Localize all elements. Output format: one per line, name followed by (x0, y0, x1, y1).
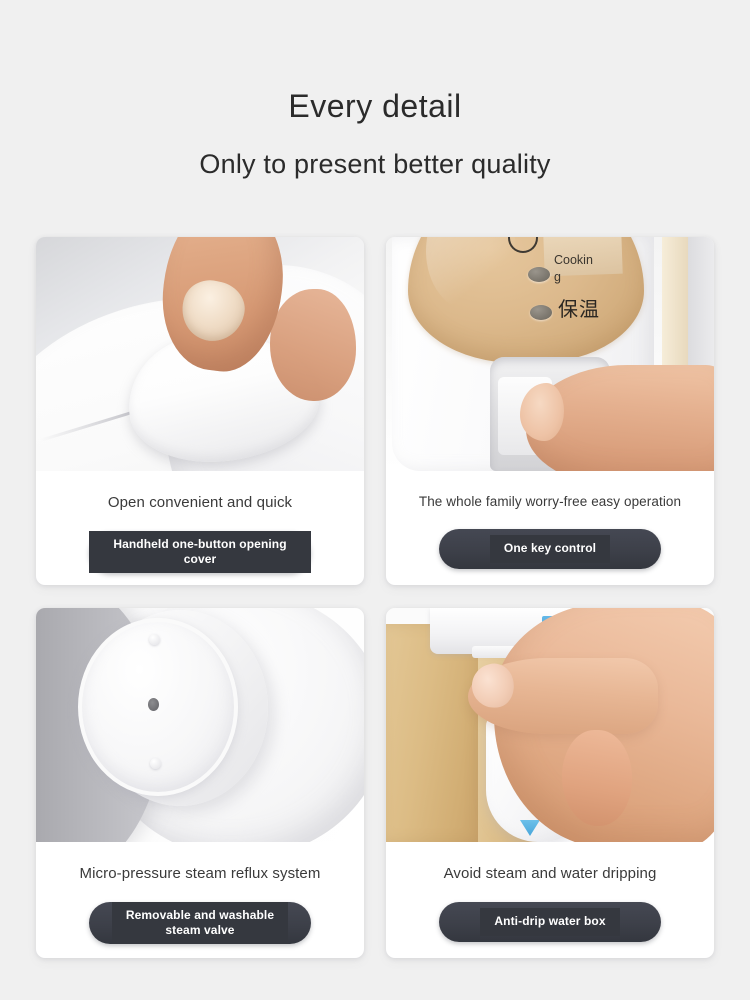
feature-tag-label: Removable and washable steam valve (126, 908, 274, 938)
feature-tag-button[interactable]: Handheld one-button opening cover (89, 531, 311, 573)
feature-card-grid: Open convenient and quick Handheld one-b… (36, 237, 714, 958)
feature-card[interactable]: Avoid steam and water dripping Anti-drip… (386, 608, 714, 958)
feature-caption: Avoid steam and water dripping (434, 864, 667, 884)
product-photo-control-button: Cookin g 保温 (386, 237, 714, 471)
feature-tag-label: Handheld one-button opening cover (103, 537, 297, 567)
feature-card[interactable]: Cookin g 保温 The whole family worry-free … (386, 237, 714, 585)
feature-tag-inner: Anti-drip water box (480, 908, 619, 936)
feature-caption: Micro-pressure steam reflux system (70, 864, 331, 884)
feature-card-body: Avoid steam and water dripping Anti-drip… (386, 842, 714, 958)
fingertip-shape (520, 383, 564, 441)
feature-tag-label: One key control (504, 541, 596, 556)
feature-tag-button[interactable]: Anti-drip water box (439, 902, 661, 942)
product-photo-water-box (386, 608, 714, 842)
panel-label-keep-warm: 保温 (558, 293, 600, 322)
feature-tag-inner: One key control (490, 535, 610, 563)
feature-card-body: Open convenient and quick Handheld one-b… (36, 471, 364, 585)
knuckle-shape (270, 289, 356, 401)
appliance-gold-body (386, 624, 484, 842)
feature-tag-button[interactable]: Removable and washable steam valve (89, 902, 311, 944)
page-title: Every detail (0, 86, 750, 126)
feature-card-body: Micro-pressure steam reflux system Remov… (36, 842, 364, 958)
feature-card[interactable]: Micro-pressure steam reflux system Remov… (36, 608, 364, 958)
page-subtitle: Only to present better quality (0, 148, 750, 182)
valve-bump-bottom (150, 758, 161, 769)
feature-tag-label: Anti-drip water box (494, 914, 605, 929)
feature-caption: The whole family worry-free easy operati… (409, 493, 691, 511)
indicator-light-keep-warm (530, 305, 552, 320)
feature-tag-button[interactable]: One key control (439, 529, 661, 569)
feature-tag-inner: Removable and washable steam valve (112, 902, 288, 944)
indicator-light-cooking (528, 267, 550, 282)
feature-card[interactable]: Open convenient and quick Handheld one-b… (36, 237, 364, 585)
feature-image-one-key-control: Cookin g 保温 (386, 237, 714, 471)
feature-image-open-convenient-and-quick (36, 237, 364, 471)
feature-image-steam-valve (36, 608, 364, 842)
feature-tag-inner: Handheld one-button opening cover (89, 531, 311, 573)
page-heading-block: Every detail Only to present better qual… (0, 0, 750, 182)
valve-bump-top (149, 634, 160, 645)
feature-caption: Open convenient and quick (98, 493, 302, 513)
product-feature-page: Every detail Only to present better qual… (0, 0, 750, 1000)
product-photo-lid-latch (36, 237, 364, 471)
feature-image-anti-drip-water-box (386, 608, 714, 842)
thumb-shape (562, 730, 632, 826)
product-photo-steam-valve (36, 608, 364, 842)
panel-label-cooking: Cookin g (554, 252, 596, 286)
valve-center-hole (148, 698, 159, 711)
feature-card-body: The whole family worry-free easy operati… (386, 471, 714, 585)
